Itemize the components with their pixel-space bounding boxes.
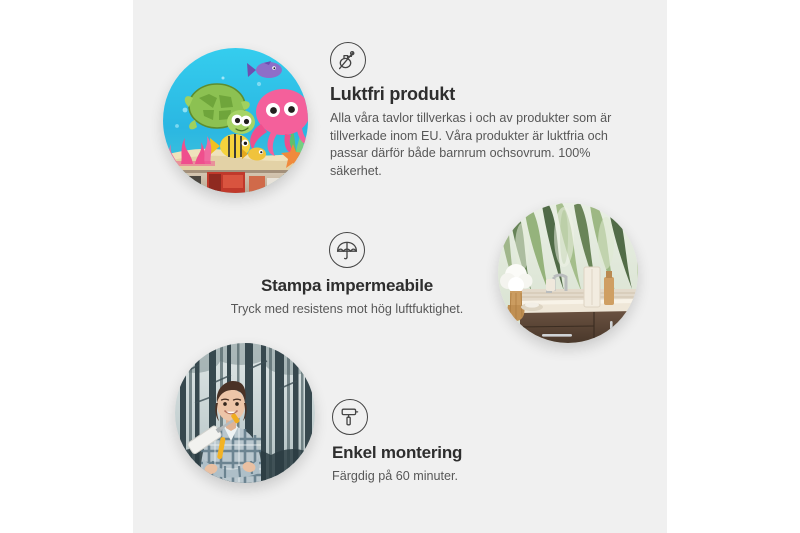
promo-panel-root: Luktfri produkt Alla våra tavlor tillver…	[0, 0, 800, 533]
underwater-cartoon-mural-photo	[163, 48, 308, 193]
umbrella-icon	[329, 232, 365, 268]
feature-body: Tryck med resistens mot hög luftfuktighe…	[212, 301, 482, 319]
underwater-illustration	[163, 48, 308, 193]
feature-title: Luktfri produkt	[330, 84, 630, 105]
bathroom-tropical-wallpaper-photo	[498, 203, 638, 343]
feature-waterproof: Stampa impermeabile Tryck med resistens …	[212, 232, 482, 318]
woman-with-paint-roller-forest-photo	[175, 343, 315, 483]
no-spray-bottle-glyph	[336, 48, 360, 72]
feature-title: Stampa impermeabile	[212, 276, 482, 296]
feature-odour-free: Luktfri produkt Alla våra tavlor tillver…	[330, 42, 630, 181]
umbrella-glyph	[335, 238, 359, 262]
painter-illustration	[175, 343, 315, 483]
feature-body: Alla våra tavlor tillverkas i och av pro…	[330, 110, 630, 182]
paint-roller-icon	[332, 399, 368, 435]
paint-roller-glyph	[338, 405, 362, 429]
feature-easy-mounting: Enkel montering Färgdig på 60 minuter.	[332, 399, 582, 485]
feature-title: Enkel montering	[332, 443, 582, 463]
bathroom-illustration	[498, 203, 638, 343]
no-spray-bottle-icon	[330, 42, 366, 78]
feature-body: Färgdig på 60 minuter.	[332, 468, 582, 486]
